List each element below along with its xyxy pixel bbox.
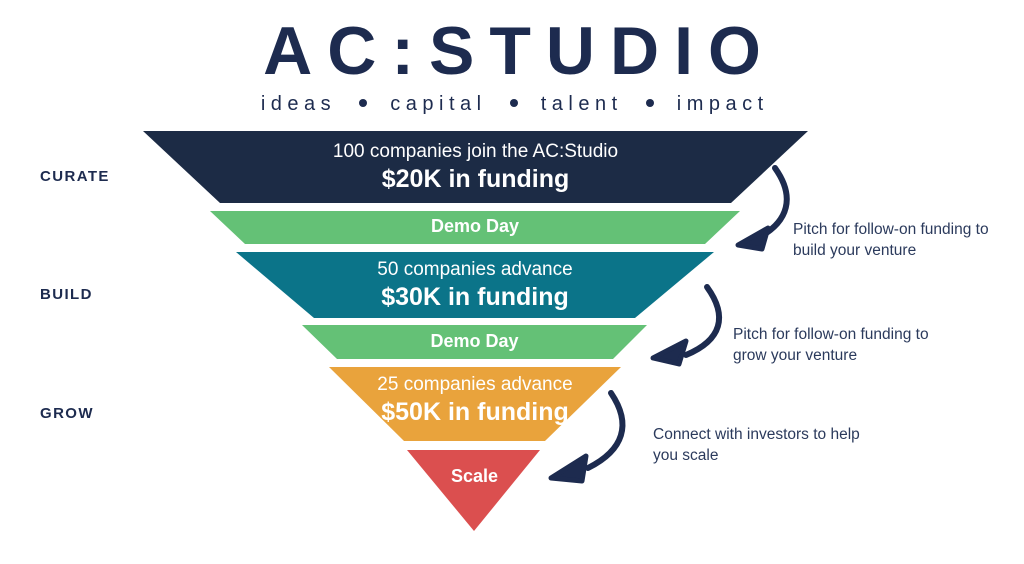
funnel-diagram	[0, 0, 1024, 564]
funnel-segment-curate	[143, 131, 808, 203]
callout-note-3-line1: Connect with investors to help	[653, 424, 903, 445]
callout-note-2: Pitch for follow-on funding to grow your…	[733, 324, 968, 366]
callout-note-2-line1: Pitch for follow-on funding to	[733, 324, 968, 345]
funnel-segment-scale	[407, 450, 540, 531]
callout-arrow-2	[653, 287, 719, 364]
infographic-canvas: AC:STUDIO ideas capital talent impact CU…	[0, 0, 1024, 564]
callout-note-1-line2: build your venture	[793, 240, 1018, 261]
callout-note-1-line1: Pitch for follow-on funding to	[793, 219, 1018, 240]
callout-note-3-line2: you scale	[653, 445, 903, 466]
callout-note-2-line2: grow your venture	[733, 345, 968, 366]
callout-note-3: Connect with investors to help you scale	[653, 424, 903, 466]
funnel-segment-demo-day-1	[210, 211, 740, 244]
funnel-segment-grow	[329, 367, 621, 441]
callout-note-1: Pitch for follow-on funding to build you…	[793, 219, 1018, 261]
funnel-segment-build	[236, 252, 714, 318]
funnel-segment-demo-day-2	[302, 325, 647, 359]
